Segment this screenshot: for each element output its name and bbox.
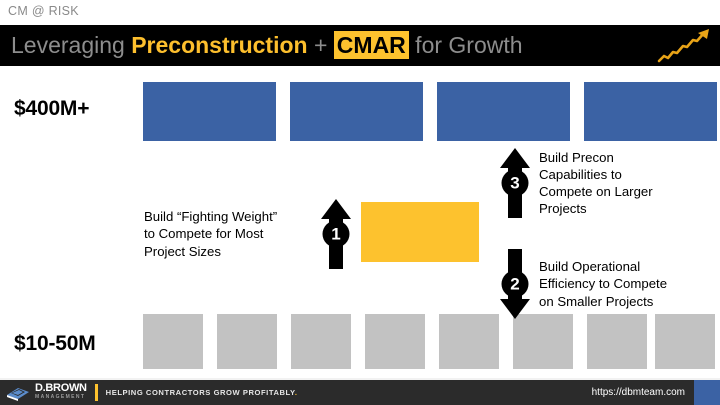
step-number-badge-1: 1 bbox=[323, 221, 350, 248]
bar-gray bbox=[587, 314, 647, 369]
footer-tagline-dot: . bbox=[295, 388, 298, 397]
title-plus: + bbox=[308, 32, 334, 58]
bar-gray bbox=[513, 314, 573, 369]
slide-canvas: CM @ RISK Leveraging Preconstruction + C… bbox=[0, 0, 720, 405]
callout-step-3-text: Build Precon Capabilities to Compete on … bbox=[539, 149, 709, 218]
footer-divider bbox=[95, 384, 98, 401]
page-title: Leveraging Preconstruction + CMAR for Gr… bbox=[11, 34, 523, 57]
footer-right-group: https://dbmteam.com bbox=[592, 380, 720, 405]
title-accent-preconstruction: Preconstruction bbox=[131, 32, 307, 58]
step-number-badge-3: 3 bbox=[502, 170, 529, 197]
title-highlight-cmar: CMAR bbox=[334, 31, 409, 59]
footer-tagline: HELPING CONTRACTORS GROW PROFITABLY. bbox=[106, 388, 298, 397]
title-part-2: for Growth bbox=[409, 32, 523, 58]
title-bar: Leveraging Preconstruction + CMAR for Gr… bbox=[0, 25, 720, 66]
bar-gray bbox=[291, 314, 351, 369]
callout-step-1: Build “Fighting Weight” to Compete for M… bbox=[144, 197, 352, 271]
callout-step-2-text: Build Operational Efficiency to Compete … bbox=[539, 258, 717, 309]
bar-yellow-highlight bbox=[361, 202, 479, 262]
bar-gray bbox=[217, 314, 277, 369]
callout-step-2: 2 Build Operational Efficiency to Compet… bbox=[499, 247, 717, 321]
step-number-badge-2: 2 bbox=[502, 271, 529, 298]
callout-step-3: 3 Build Precon Capabilities to Compete o… bbox=[499, 146, 709, 220]
bar-gray bbox=[439, 314, 499, 369]
dbrown-layers-logo-icon bbox=[6, 384, 30, 402]
up-arrow-badge-1: 1 bbox=[320, 197, 352, 271]
footer-bar: D.BROWN MANAGEMENT HELPING CONTRACTORS G… bbox=[0, 378, 720, 405]
brand-logo[interactable]: D.BROWN MANAGEMENT bbox=[0, 383, 87, 402]
tier-label-top: $400M+ bbox=[14, 97, 89, 121]
tier-label-bottom: $10-50M bbox=[14, 332, 95, 356]
brand-name: D.BROWN bbox=[35, 383, 87, 394]
bar-blue bbox=[584, 82, 717, 141]
bar-gray bbox=[655, 314, 715, 369]
trending-up-arrow-icon bbox=[657, 27, 713, 64]
callout-step-1-text: Build “Fighting Weight” to Compete for M… bbox=[144, 208, 314, 259]
up-arrow-badge-3: 3 bbox=[499, 146, 531, 220]
footer-url[interactable]: https://dbmteam.com bbox=[592, 387, 694, 398]
bar-blue bbox=[143, 82, 276, 141]
brand-subtitle: MANAGEMENT bbox=[35, 394, 87, 402]
brand-logo-words: D.BROWN MANAGEMENT bbox=[35, 383, 87, 402]
down-arrow-badge-2: 2 bbox=[499, 247, 531, 321]
eyebrow-label: CM @ RISK bbox=[8, 4, 79, 18]
bar-blue bbox=[290, 82, 423, 141]
footer-tagline-text: HELPING CONTRACTORS GROW PROFITABLY bbox=[106, 388, 295, 397]
bar-blue bbox=[437, 82, 570, 141]
footer-accent-block bbox=[694, 380, 720, 405]
bar-gray bbox=[365, 314, 425, 369]
bar-gray bbox=[143, 314, 203, 369]
title-part-1: Leveraging bbox=[11, 32, 131, 58]
